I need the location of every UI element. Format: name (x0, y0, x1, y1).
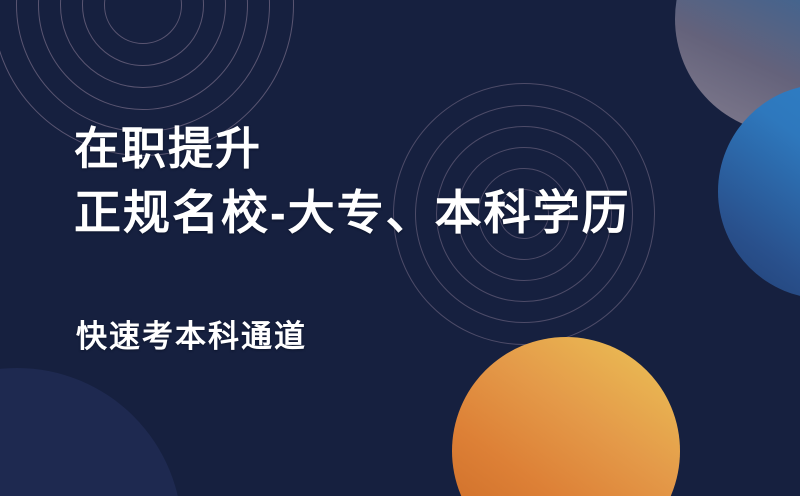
decorative-blue-circle-top-right (718, 84, 800, 299)
decorative-gradient-circle-top-right (675, 0, 800, 134)
subheadline: 快速考本科通道 (76, 311, 307, 356)
decorative-orange-sun-circle (452, 337, 680, 496)
promo-banner: 在职提升 正规名校-大专、本科学历 快速考本科通道 (0, 0, 800, 496)
headline-block: 在职提升 正规名校-大专、本科学历 (74, 118, 631, 246)
headline-line-2: 正规名校-大专、本科学历 (74, 180, 631, 246)
decorative-navy-circle-bottom-left (0, 368, 182, 496)
headline-line-1: 在职提升 (74, 118, 631, 180)
